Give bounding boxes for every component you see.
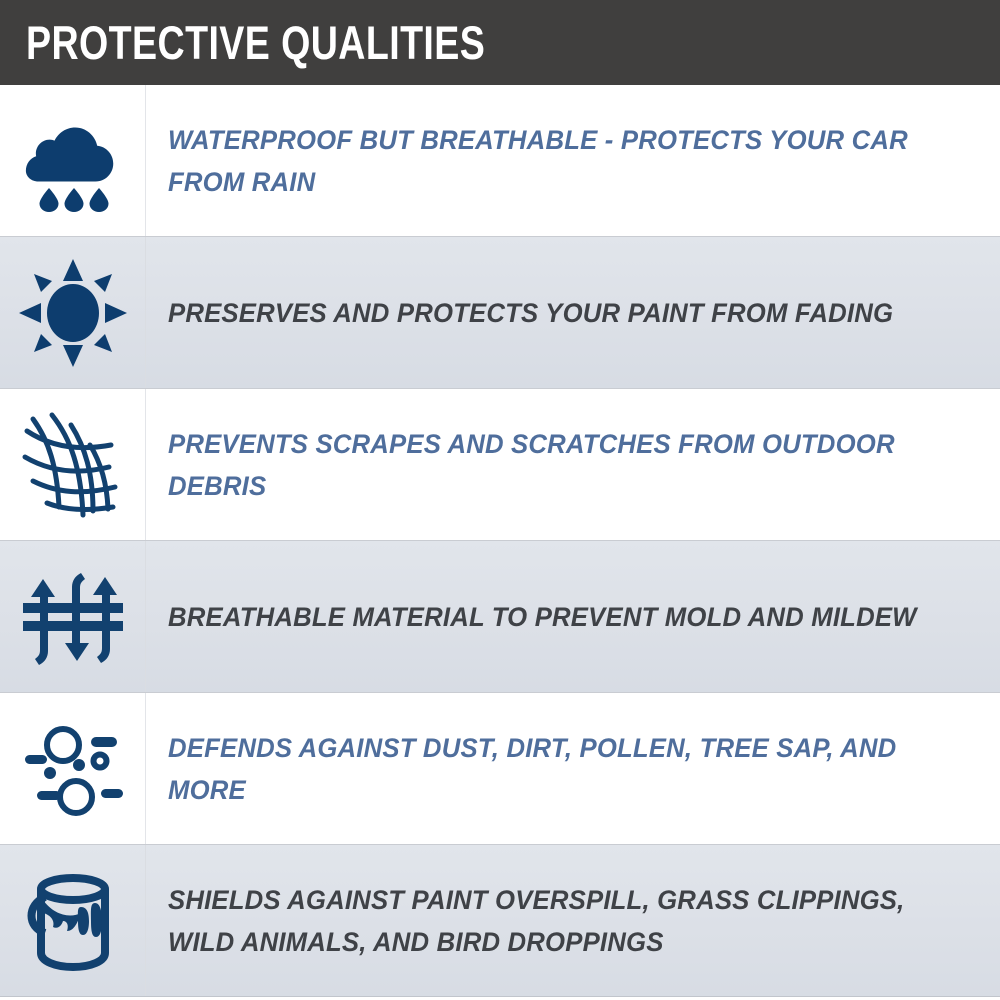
feature-label: SHIELDS AGAINST PAINT OVERSPILL, GRASS C… <box>168 879 954 963</box>
feature-label: PRESERVES AND PROTECTS YOUR PAINT FROM F… <box>168 292 893 334</box>
feature-row: BREATHABLE MATERIAL TO PREVENT MOLD AND … <box>0 541 1000 693</box>
feature-list: WATERPROOF BUT BREATHABLE - PROTECTS YOU… <box>0 85 1000 997</box>
protective-qualities-infographic: PROTECTIVE QUALITIES WATERPROOF BUT BREA… <box>0 0 1000 1000</box>
feature-text-cell: BREATHABLE MATERIAL TO PREVENT MOLD AND … <box>146 541 1000 692</box>
feature-icon-cell <box>0 693 146 844</box>
sun-icon <box>19 259 127 367</box>
feature-row: DEFENDS AGAINST DUST, DIRT, POLLEN, TREE… <box>0 693 1000 845</box>
feature-icon-cell <box>0 541 146 692</box>
feature-label: DEFENDS AGAINST DUST, DIRT, POLLEN, TREE… <box>168 727 954 811</box>
feature-row: SHIELDS AGAINST PAINT OVERSPILL, GRASS C… <box>0 845 1000 997</box>
rain-cloud-icon <box>19 107 127 215</box>
feature-row: PRESERVES AND PROTECTS YOUR PAINT FROM F… <box>0 237 1000 389</box>
feature-text-cell: DEFENDS AGAINST DUST, DIRT, POLLEN, TREE… <box>146 693 1000 844</box>
feature-text-cell: SHIELDS AGAINST PAINT OVERSPILL, GRASS C… <box>146 845 1000 996</box>
feature-text-cell: PREVENTS SCRAPES AND SCRATCHES FROM OUTD… <box>146 389 1000 540</box>
feature-label: PREVENTS SCRAPES AND SCRATCHES FROM OUTD… <box>168 423 954 507</box>
feature-label: BREATHABLE MATERIAL TO PREVENT MOLD AND … <box>168 596 917 638</box>
feature-text-cell: WATERPROOF BUT BREATHABLE - PROTECTS YOU… <box>146 85 1000 236</box>
feature-text-cell: PRESERVES AND PROTECTS YOUR PAINT FROM F… <box>146 237 1000 388</box>
breathable-arrows-icon <box>19 563 127 671</box>
dust-particles-icon <box>19 715 127 823</box>
feature-row: PREVENTS SCRAPES AND SCRATCHES FROM OUTD… <box>0 389 1000 541</box>
feature-row: WATERPROOF BUT BREATHABLE - PROTECTS YOU… <box>0 85 1000 237</box>
feature-icon-cell <box>0 845 146 996</box>
feature-icon-cell <box>0 237 146 388</box>
scratches-icon <box>19 411 127 519</box>
feature-label: WATERPROOF BUT BREATHABLE - PROTECTS YOU… <box>168 119 954 203</box>
feature-icon-cell <box>0 85 146 236</box>
header-bar: PROTECTIVE QUALITIES <box>0 0 1000 85</box>
page-title: PROTECTIVE QUALITIES <box>26 19 485 66</box>
feature-icon-cell <box>0 389 146 540</box>
paint-can-icon <box>19 867 127 975</box>
